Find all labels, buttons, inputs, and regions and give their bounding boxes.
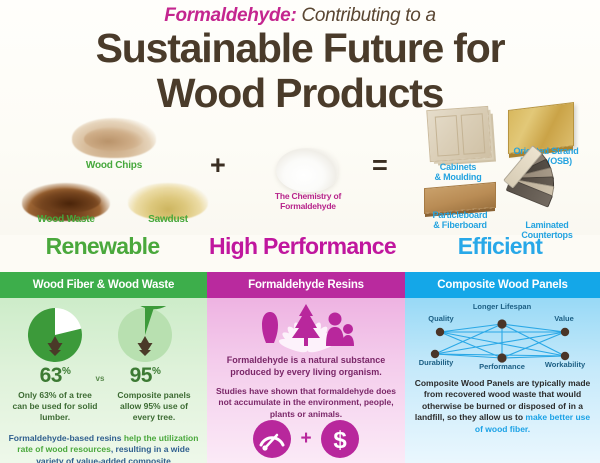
category-title-high-performance: High Performance	[200, 233, 405, 260]
node-label-quality: Quality	[413, 314, 469, 323]
node-label-workability: Workability	[535, 360, 595, 369]
kicker-line: Formaldehyde: Contributing to a	[0, 5, 600, 27]
stat-value-63: 63%	[26, 364, 84, 388]
renewable-footer-text: Formaldehyde-based resins help the utili…	[6, 433, 201, 463]
column-renewable: 63% 95% vs Only 63% of a tree can be use…	[0, 298, 207, 463]
stat-number-95: 95	[130, 364, 152, 387]
stat-caption-95: Composite panels allow 95% use of every …	[108, 390, 200, 423]
kicker-highlight: Formaldehyde:	[164, 5, 296, 26]
wood-chips-image	[72, 118, 156, 158]
column-efficient: Quality Longer Lifespan Value Durability…	[405, 298, 600, 463]
people-icon	[325, 312, 355, 346]
formaldehyde-powder-image	[276, 148, 338, 192]
particleboard-label: Particleboard & Fiberboard	[412, 210, 508, 231]
formaldehyde-natural-text: Formaldehyde is a natural substance prod…	[215, 354, 397, 378]
plus-sign: +	[300, 428, 311, 450]
countertops-label-line1: Laminated	[525, 220, 568, 230]
particleboard-label-line1: Particleboard	[433, 210, 488, 220]
pie-chart-group	[0, 306, 207, 368]
chemistry-label: The Chemistry of Formaldehyde	[249, 192, 367, 212]
particleboard-label-line2: & Fiberboard	[433, 220, 487, 230]
wood-waste-label: Wood Waste	[18, 214, 114, 225]
node-label-longer-lifespan: Longer Lifespan	[467, 302, 537, 311]
pie-chart-63	[26, 306, 84, 364]
sawdust-label: Sawdust	[128, 214, 208, 225]
dollar-icon: $	[321, 420, 359, 458]
efficient-body-text: Composite Wood Panels are typically made…	[411, 378, 594, 435]
benefit-icons-row: + $	[207, 420, 405, 458]
header-section: Formaldehyde: Contributing to a Sustaina…	[0, 0, 600, 235]
bar-wood-fiber: Wood Fiber & Wood Waste	[0, 272, 207, 298]
pie-chart-95	[116, 306, 174, 364]
category-title-renewable: Renewable	[0, 233, 205, 260]
chemistry-label-line2: Formaldehyde	[280, 201, 336, 211]
tree-icon	[291, 304, 321, 346]
column-header-bars: Wood Fiber & Wood Waste Formaldehyde Res…	[0, 272, 600, 298]
countertops-image	[508, 178, 582, 218]
cabinets-label-line2: & Moulding	[435, 172, 482, 182]
cabinets-image	[426, 106, 491, 162]
stat-number-63: 63	[40, 364, 62, 387]
wood-chips-label: Wood Chips	[72, 160, 156, 171]
category-title-efficient: Efficient	[400, 233, 600, 260]
category-titles: Renewable High Performance Efficient	[0, 233, 600, 271]
bar-formaldehyde-resins: Formaldehyde Resins	[207, 272, 405, 298]
node-label-durability: Durability	[407, 358, 465, 367]
equals-operator: =	[372, 150, 388, 181]
title-line-2: Wood Products	[0, 73, 600, 114]
svg-text:$: $	[333, 427, 347, 454]
column-bodies: 63% 95% vs Only 63% of a tree can be use…	[0, 298, 600, 463]
cabinets-label: Cabinets & Moulding	[414, 162, 502, 183]
kicker-rest: Contributing to a	[296, 5, 435, 26]
node-label-performance: Performance	[467, 362, 537, 371]
title-line-1: Sustainable Future for	[0, 28, 600, 69]
stat-unit-95: %	[152, 366, 160, 377]
gauge-icon	[253, 420, 291, 458]
column-high-performance: Formaldehyde is a natural substance prod…	[207, 298, 405, 463]
cabinets-label-line1: Cabinets	[440, 162, 476, 172]
formaldehyde-studies-text: Studies have shown that formaldehyde doe…	[213, 386, 399, 420]
stat-caption-63: Only 63% of a tree can be used for solid…	[10, 390, 100, 423]
stat-value-95: 95%	[116, 364, 174, 388]
chemistry-label-line1: The Chemistry of	[275, 191, 341, 201]
bird-icon	[261, 312, 279, 346]
plus-operator: +	[210, 150, 226, 181]
node-label-value: Value	[539, 314, 589, 323]
bar-composite-wood-panels: Composite Wood Panels	[405, 272, 600, 298]
footer-plain-1: Formaldehyde-based resins	[9, 433, 124, 443]
infographic-page: Formaldehyde: Contributing to a Sustaina…	[0, 0, 600, 463]
versus-label: vs	[84, 374, 116, 383]
stat-unit-63: %	[62, 366, 70, 377]
